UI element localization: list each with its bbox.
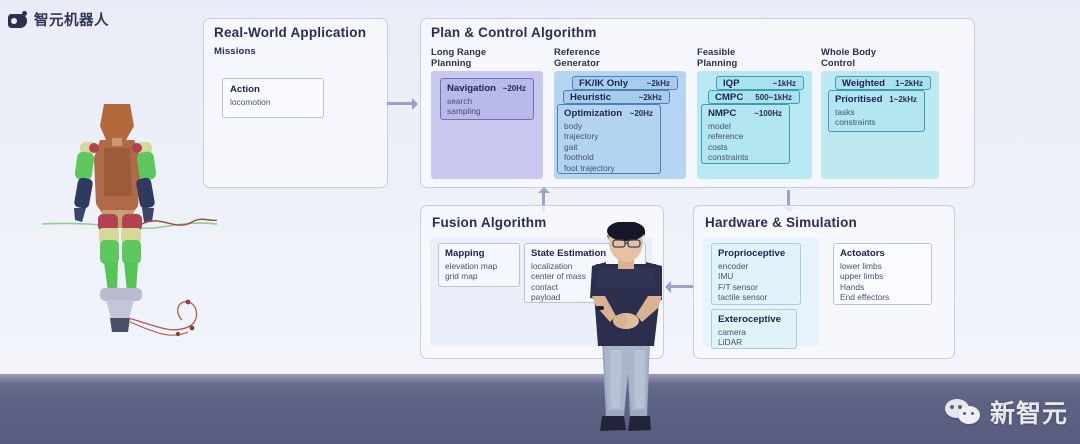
group-label-feasible-planning: Feasible Planning (697, 46, 737, 69)
card-rate-heuristic: ~2kHz (639, 93, 662, 102)
card-navigation[interactable]: Navigation ~20Hz search sampling (440, 78, 534, 120)
label-line-1: Reference (554, 46, 600, 57)
card-exteroceptive[interactable]: Exteroceptive camera LiDAR (711, 309, 797, 349)
label-line-1: Long Range (431, 46, 486, 57)
card-title-proprioceptive: Proprioceptive (718, 248, 785, 259)
card-title-prioritised: Prioritised (835, 94, 882, 105)
card-cmpc[interactable]: CMPC 500~1kHz (708, 90, 800, 104)
watermark-text: 新智元 (990, 394, 1068, 430)
brand-logo: 智元机器人 (8, 9, 109, 30)
card-item: foothold (564, 152, 654, 162)
card-title-nmpc: NMPC (708, 108, 736, 119)
label-missions: Missions (214, 46, 256, 57)
label-line-2: Control (821, 57, 855, 68)
label-line-2: Generator (554, 57, 600, 68)
card-rate-optimization: ~20Hz (630, 109, 653, 118)
card-prioritised[interactable]: Prioritised 1~2kHz tasks constraints (828, 90, 925, 132)
card-rate-prioritised: 1~2kHz (889, 95, 917, 104)
card-item: End effectors (840, 292, 925, 302)
card-title-mapping: Mapping (445, 248, 484, 259)
card-item: constraints (835, 117, 918, 127)
card-item: costs (708, 142, 783, 152)
card-rate-weighted: 1~2kHz (895, 79, 923, 88)
card-optimization[interactable]: Optimization ~20Hz body trajectory gait … (557, 104, 661, 174)
card-item: grid map (445, 271, 513, 281)
panel-title-plan-control-algorithm: Plan & Control Algorithm (431, 25, 597, 40)
group-label-long-range-planning: Long Range Planning (431, 46, 486, 69)
label-line-1: Whole Body (821, 46, 876, 57)
stage-floor (0, 374, 1080, 444)
panel-title-hardware-simulation: Hardware & Simulation (705, 215, 857, 230)
card-item: gait (564, 142, 654, 152)
card-item: encoder (718, 261, 794, 271)
card-item: locomotion (230, 97, 316, 107)
card-item: body (564, 121, 654, 131)
arrow-app-to-plan (387, 102, 415, 105)
channel-watermark: 新智元 (945, 394, 1068, 430)
card-mapping[interactable]: Mapping elevation map grid map (438, 243, 520, 287)
humanoid-robot-figure (42, 96, 217, 351)
panel-title-fusion-algorithm: Fusion Algorithm (432, 215, 546, 230)
card-item: constraints (708, 152, 783, 162)
card-title-action: Action (230, 84, 260, 95)
card-item: tasks (835, 107, 918, 117)
card-item: IMU (718, 271, 794, 281)
card-weighted[interactable]: Weighted 1~2kHz (835, 76, 931, 90)
label-line-2: Planning (697, 57, 737, 68)
card-item: LiDAR (718, 337, 790, 347)
card-item: camera (718, 327, 790, 337)
agibot-logo-icon (8, 11, 28, 29)
label-line-1: Feasible (697, 46, 735, 57)
card-iqp[interactable]: IQP ~1kHz (716, 76, 804, 90)
card-item: model (708, 121, 783, 131)
card-item: sampling (447, 106, 527, 116)
card-item: foot trajectory (564, 163, 654, 173)
card-proprioceptive[interactable]: Proprioceptive encoder IMU F/T sensor ta… (711, 243, 801, 305)
card-title-navigation: Navigation (447, 83, 496, 94)
panel-title-real-world-application: Real-World Application (214, 25, 366, 40)
card-item: tactile sensor (718, 292, 794, 302)
card-title-actoators: Actoators (840, 248, 885, 259)
card-item: reference (708, 131, 783, 141)
card-fk-ik-only[interactable]: FK/IK Only ~2kHz (572, 76, 678, 90)
card-title-weighted: Weighted (842, 78, 885, 89)
card-item: upper limbs (840, 271, 925, 281)
card-rate-cmpc: 500~1kHz (755, 93, 792, 102)
card-rate-fk-ik-only: ~2kHz (647, 79, 670, 88)
card-title-optimization: Optimization (564, 108, 622, 119)
card-rate-nmpc: ~100Hz (754, 109, 782, 118)
group-label-reference-generator: Reference Generator (554, 46, 600, 69)
card-item: F/T sensor (718, 282, 794, 292)
group-label-whole-body-control: Whole Body Control (821, 46, 876, 69)
card-heuristic[interactable]: Heuristic ~2kHz (563, 90, 670, 104)
card-action[interactable]: Action locomotion (222, 78, 324, 118)
card-item: lower limbs (840, 261, 925, 271)
card-title-exteroceptive: Exteroceptive (718, 314, 781, 325)
wechat-icon (945, 398, 983, 426)
card-title-fk-ik-only: FK/IK Only (579, 78, 628, 89)
floor-edge-highlight (0, 374, 1080, 384)
label-line-2: Planning (431, 57, 471, 68)
presenter-person (572, 222, 684, 444)
card-actoators[interactable]: Actoators lower limbs upper limbs Hands … (833, 243, 932, 305)
card-item: Hands (840, 282, 925, 292)
card-item: elevation map (445, 261, 513, 271)
card-rate-iqp: ~1kHz (773, 79, 796, 88)
card-nmpc[interactable]: NMPC ~100Hz model reference costs constr… (701, 104, 790, 164)
card-rate-navigation: ~20Hz (503, 84, 526, 93)
card-item: trajectory (564, 131, 654, 141)
brand-name: 智元机器人 (34, 9, 109, 30)
card-title-cmpc: CMPC (715, 92, 743, 103)
card-title-heuristic: Heuristic (570, 92, 611, 103)
card-title-iqp: IQP (723, 78, 740, 89)
card-item: search (447, 96, 527, 106)
